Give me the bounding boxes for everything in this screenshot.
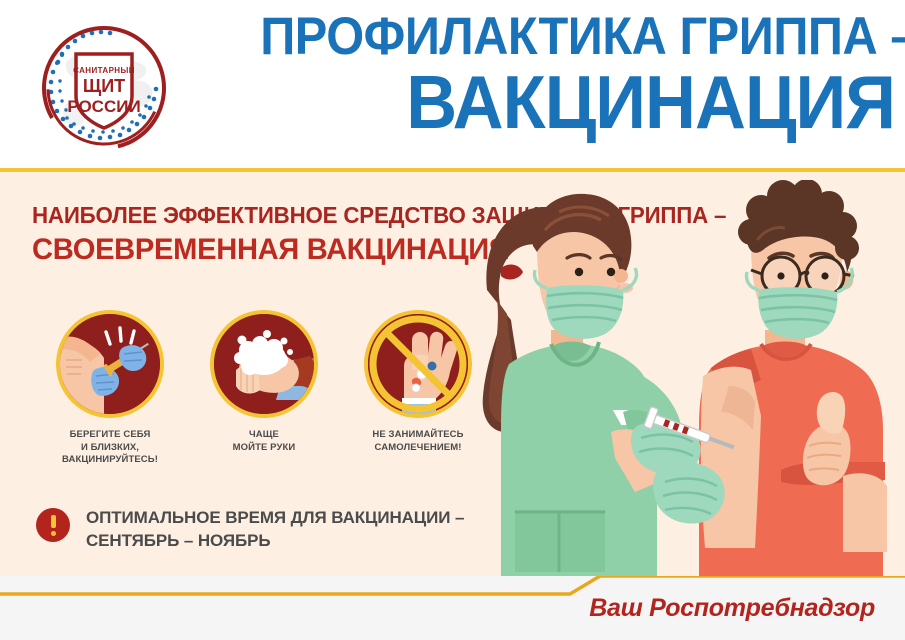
shield-line2: ЩИТ xyxy=(83,76,125,96)
vaccination-injection-in-arm-icon xyxy=(56,310,164,418)
note-line-1: ОПТИМАЛЬНОЕ ВРЕМЯ ДЛЯ ВАКЦИНАЦИИ – xyxy=(86,506,464,529)
title-line-2: ВАКЦИНАЦИЯ xyxy=(246,62,895,142)
exclamation-mark-icon xyxy=(36,508,70,542)
poster-header: САНИТАРНЫЙ ЩИТ РОССИИ ПРОФИЛАКТИКА ГРИПП… xyxy=(0,0,905,172)
caption-line-2: МОЙТЕ РУКИ xyxy=(198,442,330,455)
washing-hands-with-soap-icon xyxy=(210,310,318,418)
no-self-medication-icon-svg xyxy=(368,314,468,414)
caption-line-2: САМОЛЕЧЕНИЕМ! xyxy=(352,442,484,455)
exclamation-bar xyxy=(51,515,56,528)
tile-no-self-medication: НЕ ЗАНИМАЙТЕСЬ САМОЛЕЧЕНИЕМ! xyxy=(352,310,484,467)
shield-line1: САНИТАРНЫЙ xyxy=(73,66,135,75)
tile-caption-vaccination: БЕРЕГИТЕ СЕБЯ И БЛИЗКИХ, ВАКЦИНИРУЙТЕСЬ! xyxy=(44,429,176,467)
caption-line-1: ЧАЩЕ xyxy=(198,429,330,442)
injection-icon-svg xyxy=(60,314,160,414)
shield-line3: РОССИИ xyxy=(67,97,140,116)
optimal-time-note: ОПТИМАЛЬНОЕ ВРЕМЯ ДЛЯ ВАКЦИНАЦИИ – СЕНТЯ… xyxy=(36,506,464,552)
poster-footer: Ваш Роспотребнадзор xyxy=(0,576,905,640)
poster-title: ПРОФИЛАКТИКА ГРИППА – ВАКЦИНАЦИЯ xyxy=(205,8,895,142)
caption-line-1: БЕРЕГИТЕ СЕБЯ xyxy=(44,429,176,442)
headline-line-1: НАИБОЛЕЕ ЭФФЕКТИВНОЕ СРЕДСТВО ЗАЩИТЫ ОТ … xyxy=(32,202,653,229)
title-line-1: ПРОФИЛАКТИКА ГРИППА – xyxy=(260,8,895,66)
caption-line-3: ВАКЦИНИРУЙТЕСЬ! xyxy=(44,454,176,467)
headline-block: НАИБОЛЕЕ ЭФФЕКТИВНОЕ СРЕДСТВО ЗАЩИТЫ ОТ … xyxy=(32,202,672,268)
sanitary-shield-of-russia-emblem: САНИТАРНЫЙ ЩИТ РОССИИ xyxy=(36,18,196,158)
no-self-medication-prohibition-icon xyxy=(364,310,472,418)
tile-wash-hands: ЧАЩЕ МОЙТЕ РУКИ xyxy=(198,310,330,467)
headline-line-2: СВОЕВРЕМЕННАЯ ВАКЦИНАЦИЯ xyxy=(32,232,653,268)
note-line-2: СЕНТЯБРЬ – НОЯБРЬ xyxy=(86,529,464,552)
tile-caption-wash-hands: ЧАЩЕ МОЙТЕ РУКИ xyxy=(198,429,330,454)
caption-line-2: И БЛИЗКИХ, xyxy=(44,442,176,455)
exclamation-dot xyxy=(51,531,56,536)
poster-body: НАИБОЛЕЕ ЭФФЕКТИВНОЕ СРЕДСТВО ЗАЩИТЫ ОТ … xyxy=(0,176,905,594)
tile-vaccination: БЕРЕГИТЕ СЕБЯ И БЛИЗКИХ, ВАКЦИНИРУЙТЕСЬ! xyxy=(44,310,176,467)
flu-vaccination-poster: САНИТАРНЫЙ ЩИТ РОССИИ ПРОФИЛАКТИКА ГРИПП… xyxy=(0,0,905,640)
note-text: ОПТИМАЛЬНОЕ ВРЕМЯ ДЛЯ ВАКЦИНАЦИИ – СЕНТЯ… xyxy=(86,506,464,552)
tile-caption-no-self-medication: НЕ ЗАНИМАЙТЕСЬ САМОЛЕЧЕНИЕМ! xyxy=(352,429,484,454)
prevention-tiles: БЕРЕГИТЕ СЕБЯ И БЛИЗКИХ, ВАКЦИНИРУЙТЕСЬ! xyxy=(44,310,484,467)
wash-hands-icon-svg xyxy=(214,314,314,414)
caption-line-1: НЕ ЗАНИМАЙТЕСЬ xyxy=(352,429,484,442)
emblem-svg: САНИТАРНЫЙ ЩИТ РОССИИ xyxy=(36,18,196,158)
footer-brand-text: Ваш Роспотребнадзор xyxy=(589,594,875,623)
